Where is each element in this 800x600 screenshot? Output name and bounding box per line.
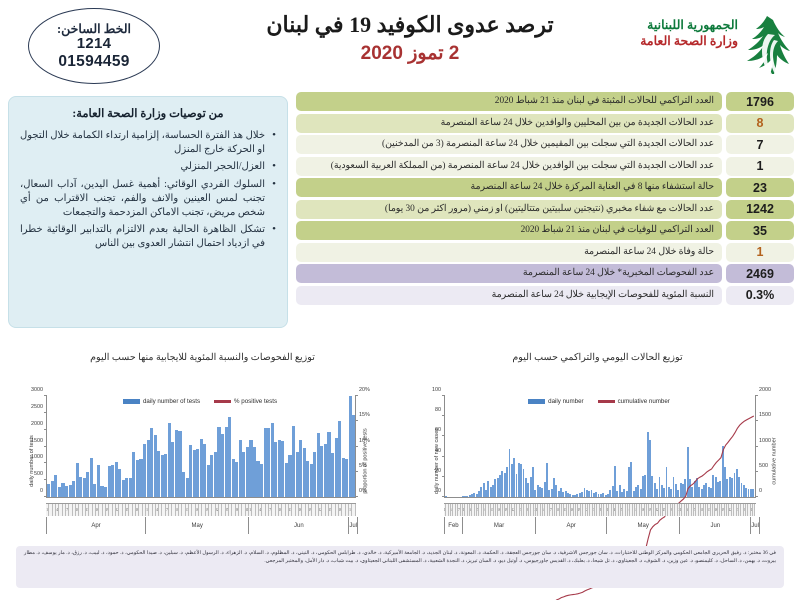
hotline-badge: الخط الساخن: 1214 01594459: [28, 8, 160, 84]
x-axis-month-label: May: [607, 517, 680, 534]
stat-label: العدد التراكمي للوفيات في لبنان منذ 21 ش…: [296, 221, 722, 240]
y2-axis-tick: [755, 496, 758, 497]
x-axis-month-label: Feb: [444, 517, 463, 534]
y2-axis-title: proportion of positive tests: [362, 428, 368, 493]
y-axis-tick: [442, 395, 445, 396]
recommendations-list: خلال هذ الفترة الحساسة، إلزامية ارتداء ا…: [20, 129, 276, 252]
y2-axis-tick: [355, 496, 358, 497]
y2-axis-tick-label: 0: [759, 488, 762, 494]
statistics-table: 1796العدد التراكمي للحالات المثبتة في لب…: [296, 92, 794, 307]
y2-axis-tick-label: 20%: [359, 387, 370, 393]
y-axis-tick: [44, 479, 47, 480]
y-axis-tick: [44, 429, 47, 430]
y-axis-tick: [44, 395, 47, 396]
recommendations-card: من توصيات وزارة الصحة العامة: خلال هذ ال…: [8, 96, 288, 328]
recommendation-item: خلال هذ الفترة الحساسة، إلزامية ارتداء ا…: [20, 129, 276, 157]
stat-label: عدد الحالات الجديدة التي سجلت بين الوافد…: [296, 157, 722, 176]
x-axis-month-strip: FebMarAprMayJunJul: [444, 517, 756, 534]
plot-area: 0204060801000500100015002000: [444, 396, 756, 498]
table-row: 0.3%النسبة المئوية للفحوصات الإيجابية خل…: [296, 286, 794, 305]
tests-chart: 0500100015002000250030000%5%10%15%20%dai…: [4, 382, 396, 540]
x-axis-month-label: Apr: [46, 517, 146, 534]
x-axis-month-label: Jun: [249, 517, 349, 534]
ministry-label: وزارة الصحة العامة: [640, 34, 738, 50]
y-axis-tick: [442, 456, 445, 457]
charts-area: 0500100015002000250030000%5%10%15%20%dai…: [0, 382, 800, 540]
x-axis-month-label: Jul: [349, 517, 358, 534]
hotline-number-secondary: 01594459: [58, 53, 129, 70]
recommendation-item: تشكل الظاهرة الحالية بعدم الالتزام بالتد…: [20, 223, 276, 251]
table-row: 1عدد الحالات الجديدة التي سجلت بين الواف…: [296, 157, 794, 176]
y-axis-tick: [44, 446, 47, 447]
y2-axis-tick: [355, 395, 358, 396]
y-axis-title: daily number of new cases: [434, 428, 440, 494]
chart-titles: توزيع الحالات اليومي والتراكمي حسب اليوم…: [0, 352, 800, 378]
stat-label: عدد الحالات مع شفاء مخبري (نتيجتين سلبيت…: [296, 200, 722, 219]
stat-value: 8: [726, 114, 794, 133]
y2-axis-tick-label: 2000: [759, 387, 771, 393]
hotline-number-primary: 1214: [77, 36, 112, 53]
stat-label: عدد الحالات الجديدة من بين المحليين والو…: [296, 114, 722, 133]
y-axis-tick: [442, 435, 445, 436]
x-axis-month-label: Jun: [680, 517, 751, 534]
x-axis-month-label: Apr: [536, 517, 607, 534]
x-axis-day-strip: 1471471013161922252831147101316192225281…: [444, 503, 756, 516]
report-date: 2 تموز 2020: [200, 42, 620, 65]
x-axis-month-label: Mar: [463, 517, 536, 534]
table-row: 2469عدد الفحوصات المخبرية* خلال 24 ساعة …: [296, 264, 794, 283]
y-axis-tick-label: 100: [432, 387, 441, 393]
body-area: من توصيات وزارة الصحة العامة: خلال هذ ال…: [0, 92, 800, 350]
stat-label: النسبة المئوية للفحوصات الإيجابية خلال 2…: [296, 286, 722, 305]
y2-axis-tick: [355, 420, 358, 421]
y-axis-tick-label: 80: [435, 407, 441, 413]
footer-note: في 36 مختبر: د. رفيق الحريري الجامعي الح…: [16, 546, 784, 588]
cedar-tree-icon: [744, 14, 790, 80]
stat-value: 23: [726, 178, 794, 197]
y2-axis-title: cumulative number: [771, 437, 777, 484]
hotline-label: الخط الساخن:: [57, 22, 131, 36]
cases-chart: 0204060801000500100015002000daily number…: [402, 382, 796, 540]
x-axis-day-cell: [352, 504, 355, 516]
tests-chart-title: توزيع الفحوصات والنسبة المئوية للايجابية…: [10, 352, 395, 363]
y-axis-tick-label: 3000: [31, 387, 43, 393]
table-row: 1796العدد التراكمي للحالات المثبتة في لب…: [296, 92, 794, 111]
y2-axis-tick: [755, 446, 758, 447]
page-header: الخط الساخن: 1214 01594459 ترصد عدوى الك…: [0, 0, 800, 92]
y-axis-tick: [44, 496, 47, 497]
table-row: 7عدد الحالات الجديدة التي سجلت بين المقي…: [296, 135, 794, 154]
table-row: 23حالة استشفاء منها 8 في العناية المركزة…: [296, 178, 794, 197]
y-axis-tick: [442, 415, 445, 416]
y-axis-tick-label: 500: [34, 471, 43, 477]
stat-value: 1796: [726, 92, 794, 111]
stat-value: 7: [726, 135, 794, 154]
y-axis-title: daily number of tests: [29, 435, 35, 487]
y-axis-tick-label: 0: [40, 488, 43, 494]
y2-axis-tick: [755, 395, 758, 396]
y-axis-tick: [44, 462, 47, 463]
stat-label: حالة وفاة خلال 24 ساعة المنصرمة: [296, 243, 722, 262]
y2-axis-tick: [355, 446, 358, 447]
x-axis-day-strip: 1471013161922252814710131619222528311471…: [46, 503, 356, 516]
table-row: 1حالة وفاة خلال 24 ساعة المنصرمة: [296, 243, 794, 262]
y-axis-tick-label: 2500: [31, 404, 43, 410]
x-axis-month-strip: AprMayJunJul: [46, 517, 356, 534]
stat-value: 1: [726, 157, 794, 176]
y-axis-tick: [44, 412, 47, 413]
stat-value: 1: [726, 243, 794, 262]
stat-value: 1242: [726, 200, 794, 219]
plot-area: 0500100015002000250030000%5%10%15%20%: [46, 396, 356, 498]
x-axis-month-label: May: [146, 517, 249, 534]
y2-axis-tick: [355, 471, 358, 472]
x-axis-day-cell: [753, 504, 755, 516]
y2-axis-tick-label: 15%: [359, 412, 370, 418]
recommendation-item: السلوك الفردي الوقائي: أهمية غسل اليدين،…: [20, 178, 276, 221]
title-block: ترصد عدوى الكوفيد 19 في لبنان 2 تموز 202…: [200, 10, 620, 65]
y2-axis-tick-label: 500: [759, 463, 768, 469]
y2-axis-tick: [755, 420, 758, 421]
stat-label: العدد التراكمي للحالات المثبتة في لبنان …: [296, 92, 722, 111]
stat-label: عدد الحالات الجديدة التي سجلت بين المقيم…: [296, 135, 722, 154]
y-axis-tick: [442, 476, 445, 477]
covid-dashboard-page: الخط الساخن: 1214 01594459 ترصد عدوى الك…: [0, 0, 800, 600]
recommendations-title: من توصيات وزارة الصحة العامة:: [20, 106, 276, 120]
y2-axis-tick-label: 1500: [759, 412, 771, 418]
stat-label: حالة استشفاء منها 8 في العناية المركزة خ…: [296, 178, 722, 197]
cases-chart-title: توزيع الحالات اليومي والتراكمي حسب اليوم: [405, 352, 790, 363]
page-title: ترصد عدوى الكوفيد 19 في لبنان: [200, 10, 620, 40]
stat-value: 2469: [726, 264, 794, 283]
stat-value: 35: [726, 221, 794, 240]
y2-axis-tick-label: 1000: [759, 438, 771, 444]
stat-label: عدد الفحوصات المخبرية* خلال 24 ساعة المن…: [296, 264, 722, 283]
x-axis-month-label: Jul: [751, 517, 760, 534]
table-row: 1242عدد الحالات مع شفاء مخبري (نتيجتين س…: [296, 200, 794, 219]
recommendation-item: العزل/الحجر المنزلي: [20, 160, 276, 174]
y-axis-tick-label: 2000: [31, 421, 43, 427]
stat-value: 0.3%: [726, 286, 794, 305]
table-row: 8عدد الحالات الجديدة من بين المحليين وال…: [296, 114, 794, 133]
ministry-branding: الجمهورية اللبنانية وزارة الصحة العامة: [640, 14, 790, 80]
y-axis-tick: [442, 496, 445, 497]
table-row: 35العدد التراكمي للوفيات في لبنان منذ 21…: [296, 221, 794, 240]
republic-label: الجمهورية اللبنانية: [640, 18, 738, 34]
y2-axis-tick: [755, 471, 758, 472]
